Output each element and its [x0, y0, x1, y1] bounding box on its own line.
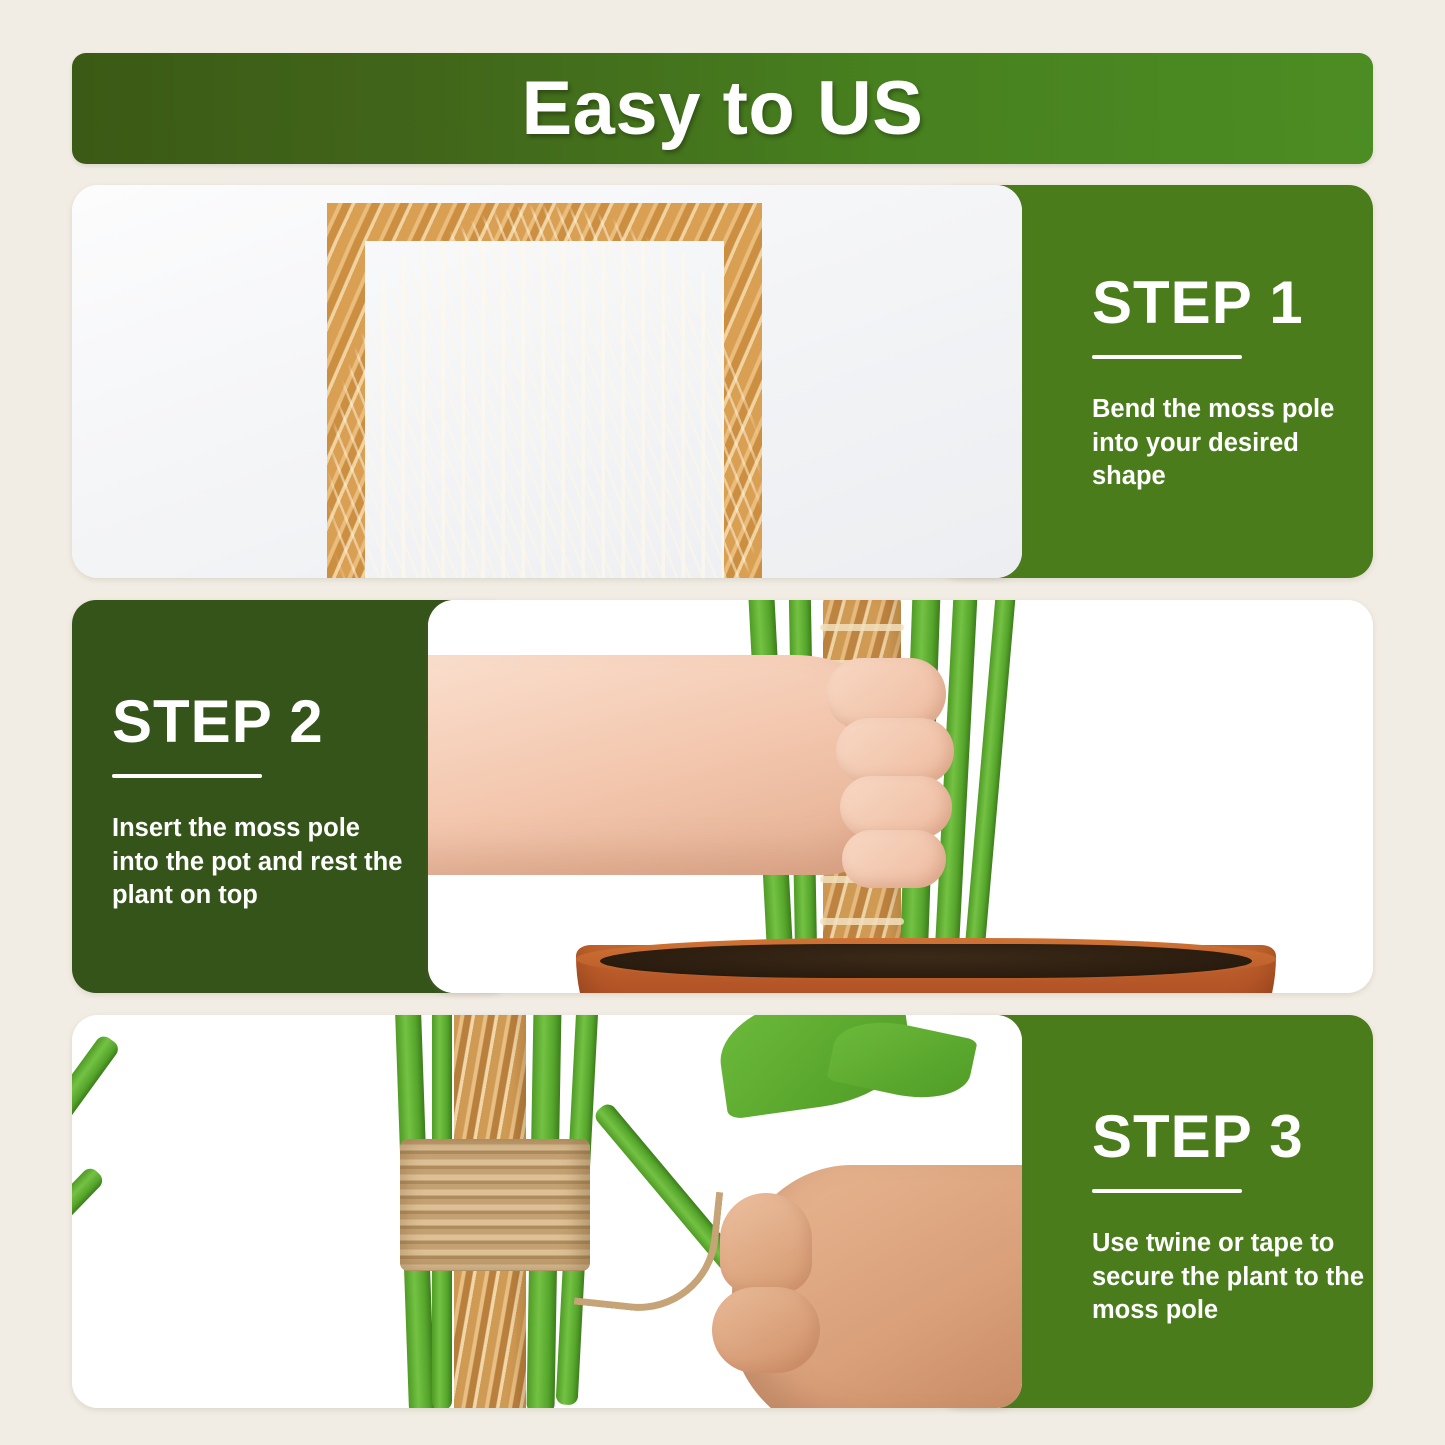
step-row-3: STEP 3 Use twine or tape to secure the p…: [72, 1015, 1373, 1408]
page-title: Easy to US: [521, 71, 923, 147]
infographic-page: Easy to US STEP 1 Bend the moss pole int…: [0, 0, 1445, 1445]
step-row-1: STEP 1 Bend the moss pole into your desi…: [72, 185, 1373, 578]
step-3-title: STEP 3: [1092, 1107, 1373, 1167]
step-row-2: STEP 2 Insert the moss pole into the pot…: [72, 600, 1373, 993]
step-3-rule: [1092, 1189, 1242, 1193]
potting-soil: [600, 944, 1252, 978]
thumb: [720, 1193, 812, 1293]
step-2-description: Insert the moss pole into the pot and re…: [112, 812, 412, 913]
step-2-rule: [112, 774, 262, 778]
twine-wrap: [400, 1139, 590, 1271]
ring-knuckle: [840, 776, 952, 838]
header-banner: Easy to US: [72, 53, 1373, 164]
step-2-illustration: [428, 600, 1373, 993]
middle-knuckle: [836, 718, 954, 784]
pole-twine-wrap: [820, 624, 904, 631]
step-3-illustration: [72, 1015, 1022, 1408]
step-2-title: STEP 2: [112, 692, 412, 752]
step-3-description: Use twine or tape to secure the plant to…: [1092, 1227, 1373, 1328]
step-1-description: Bend the moss pole into your desired sha…: [1092, 393, 1373, 494]
pinky-knuckle: [842, 830, 946, 888]
step-1-title: STEP 1: [1092, 273, 1373, 333]
step-1-photo: [72, 185, 1022, 578]
step-3-photo: [72, 1015, 1022, 1408]
step-2-photo: [428, 600, 1373, 993]
step-1-illustration: [72, 185, 1022, 578]
pole-twine-wrap: [820, 918, 904, 925]
step-1-rule: [1092, 355, 1242, 359]
index-finger: [712, 1287, 820, 1373]
